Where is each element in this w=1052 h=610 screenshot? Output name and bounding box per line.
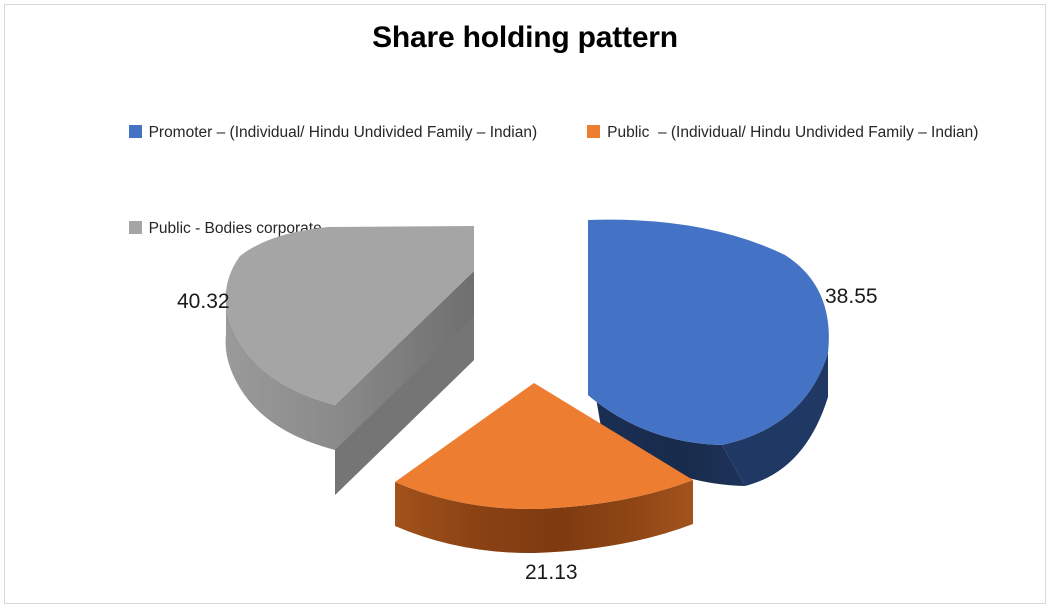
pie-chart-plot-area: 38.55 21.13 40.32 [5,5,1047,605]
data-label-public-individual: 21.13 [525,561,578,585]
data-label-promoter: 38.55 [825,285,878,309]
chart-container: Share holding pattern Promoter – (Indivi… [4,4,1046,604]
data-label-public-bodies: 40.32 [177,290,230,314]
pie-chart-svg [5,5,1047,605]
